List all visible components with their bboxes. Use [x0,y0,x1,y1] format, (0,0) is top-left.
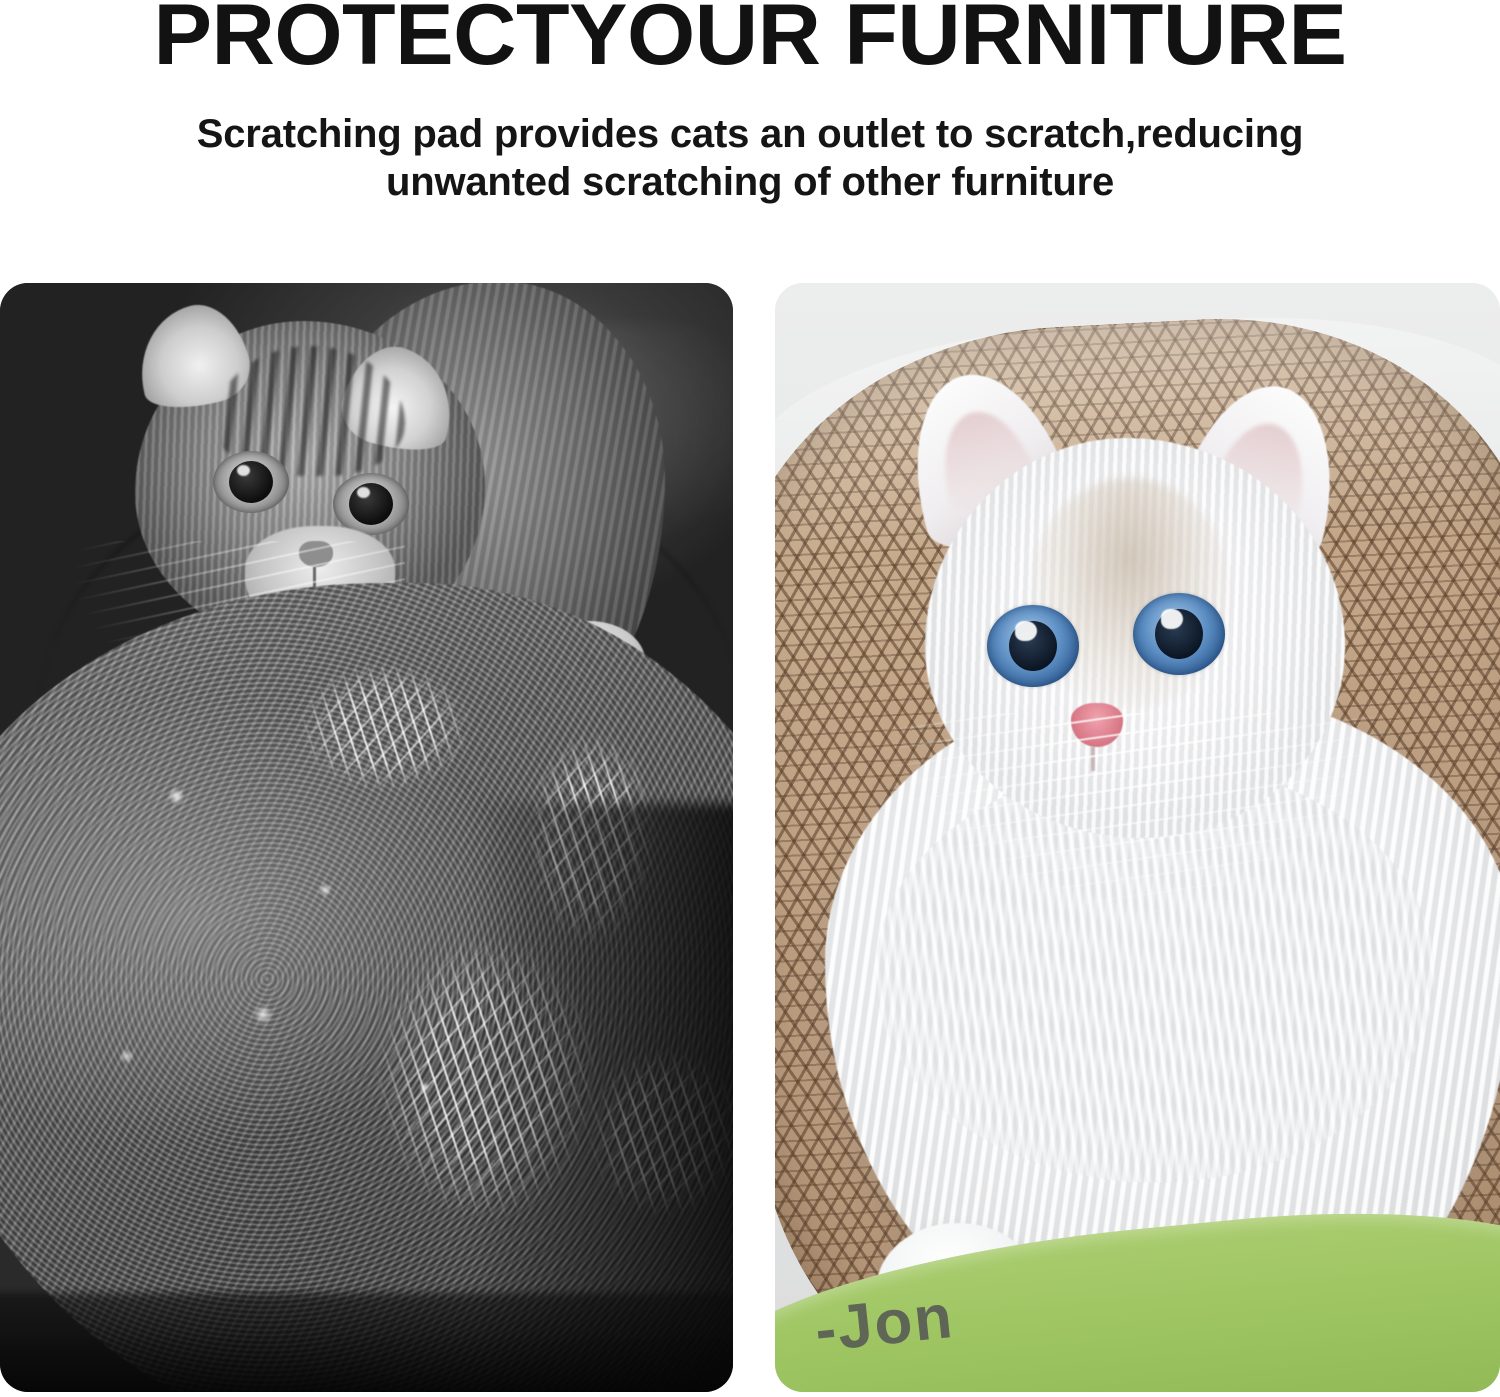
tabby-cat-eye-glint-right [357,487,370,498]
tabby-cat-pupil-right [349,483,393,525]
after-panel: -Jon AFTER [775,283,1500,1392]
tabby-cat-eye-glint-left [237,465,250,476]
before-panel: BEFOR [0,283,733,1392]
header-block: PROTECTYOUR FURNITURE Scratching pad pro… [0,0,1500,283]
ragdoll-cat [815,343,1500,1363]
ragdoll-cat-eye-glint-right [1161,609,1183,629]
tabby-cat-pupil-left [229,461,273,503]
before-photo [0,283,733,1392]
ragdoll-cat-eye-glint-left [1015,621,1037,641]
ragdoll-cat-eye-left [987,605,1079,687]
before-shadow-bottom [0,1293,733,1392]
after-photo: -Jon [775,283,1500,1392]
page-subtitle-line-1: Scratching pad provides cats an outlet t… [197,112,1303,156]
page-title: PROTECTYOUR FURNITURE [0,0,1500,82]
before-after-comparison: BEFOR [0,283,1500,1393]
page-subtitle-line-2: unwanted scratching of other furniture [0,158,1500,206]
ragdoll-cat-whiskers [875,713,1395,933]
tabby-cat-eye-right [333,473,409,535]
page-subtitle: Scratching pad provides cats an outlet t… [0,110,1500,206]
tabby-cat-eye-left [213,451,289,513]
ragdoll-cat-eye-right [1133,593,1225,675]
product-brand-label: -Jon [812,1281,958,1366]
